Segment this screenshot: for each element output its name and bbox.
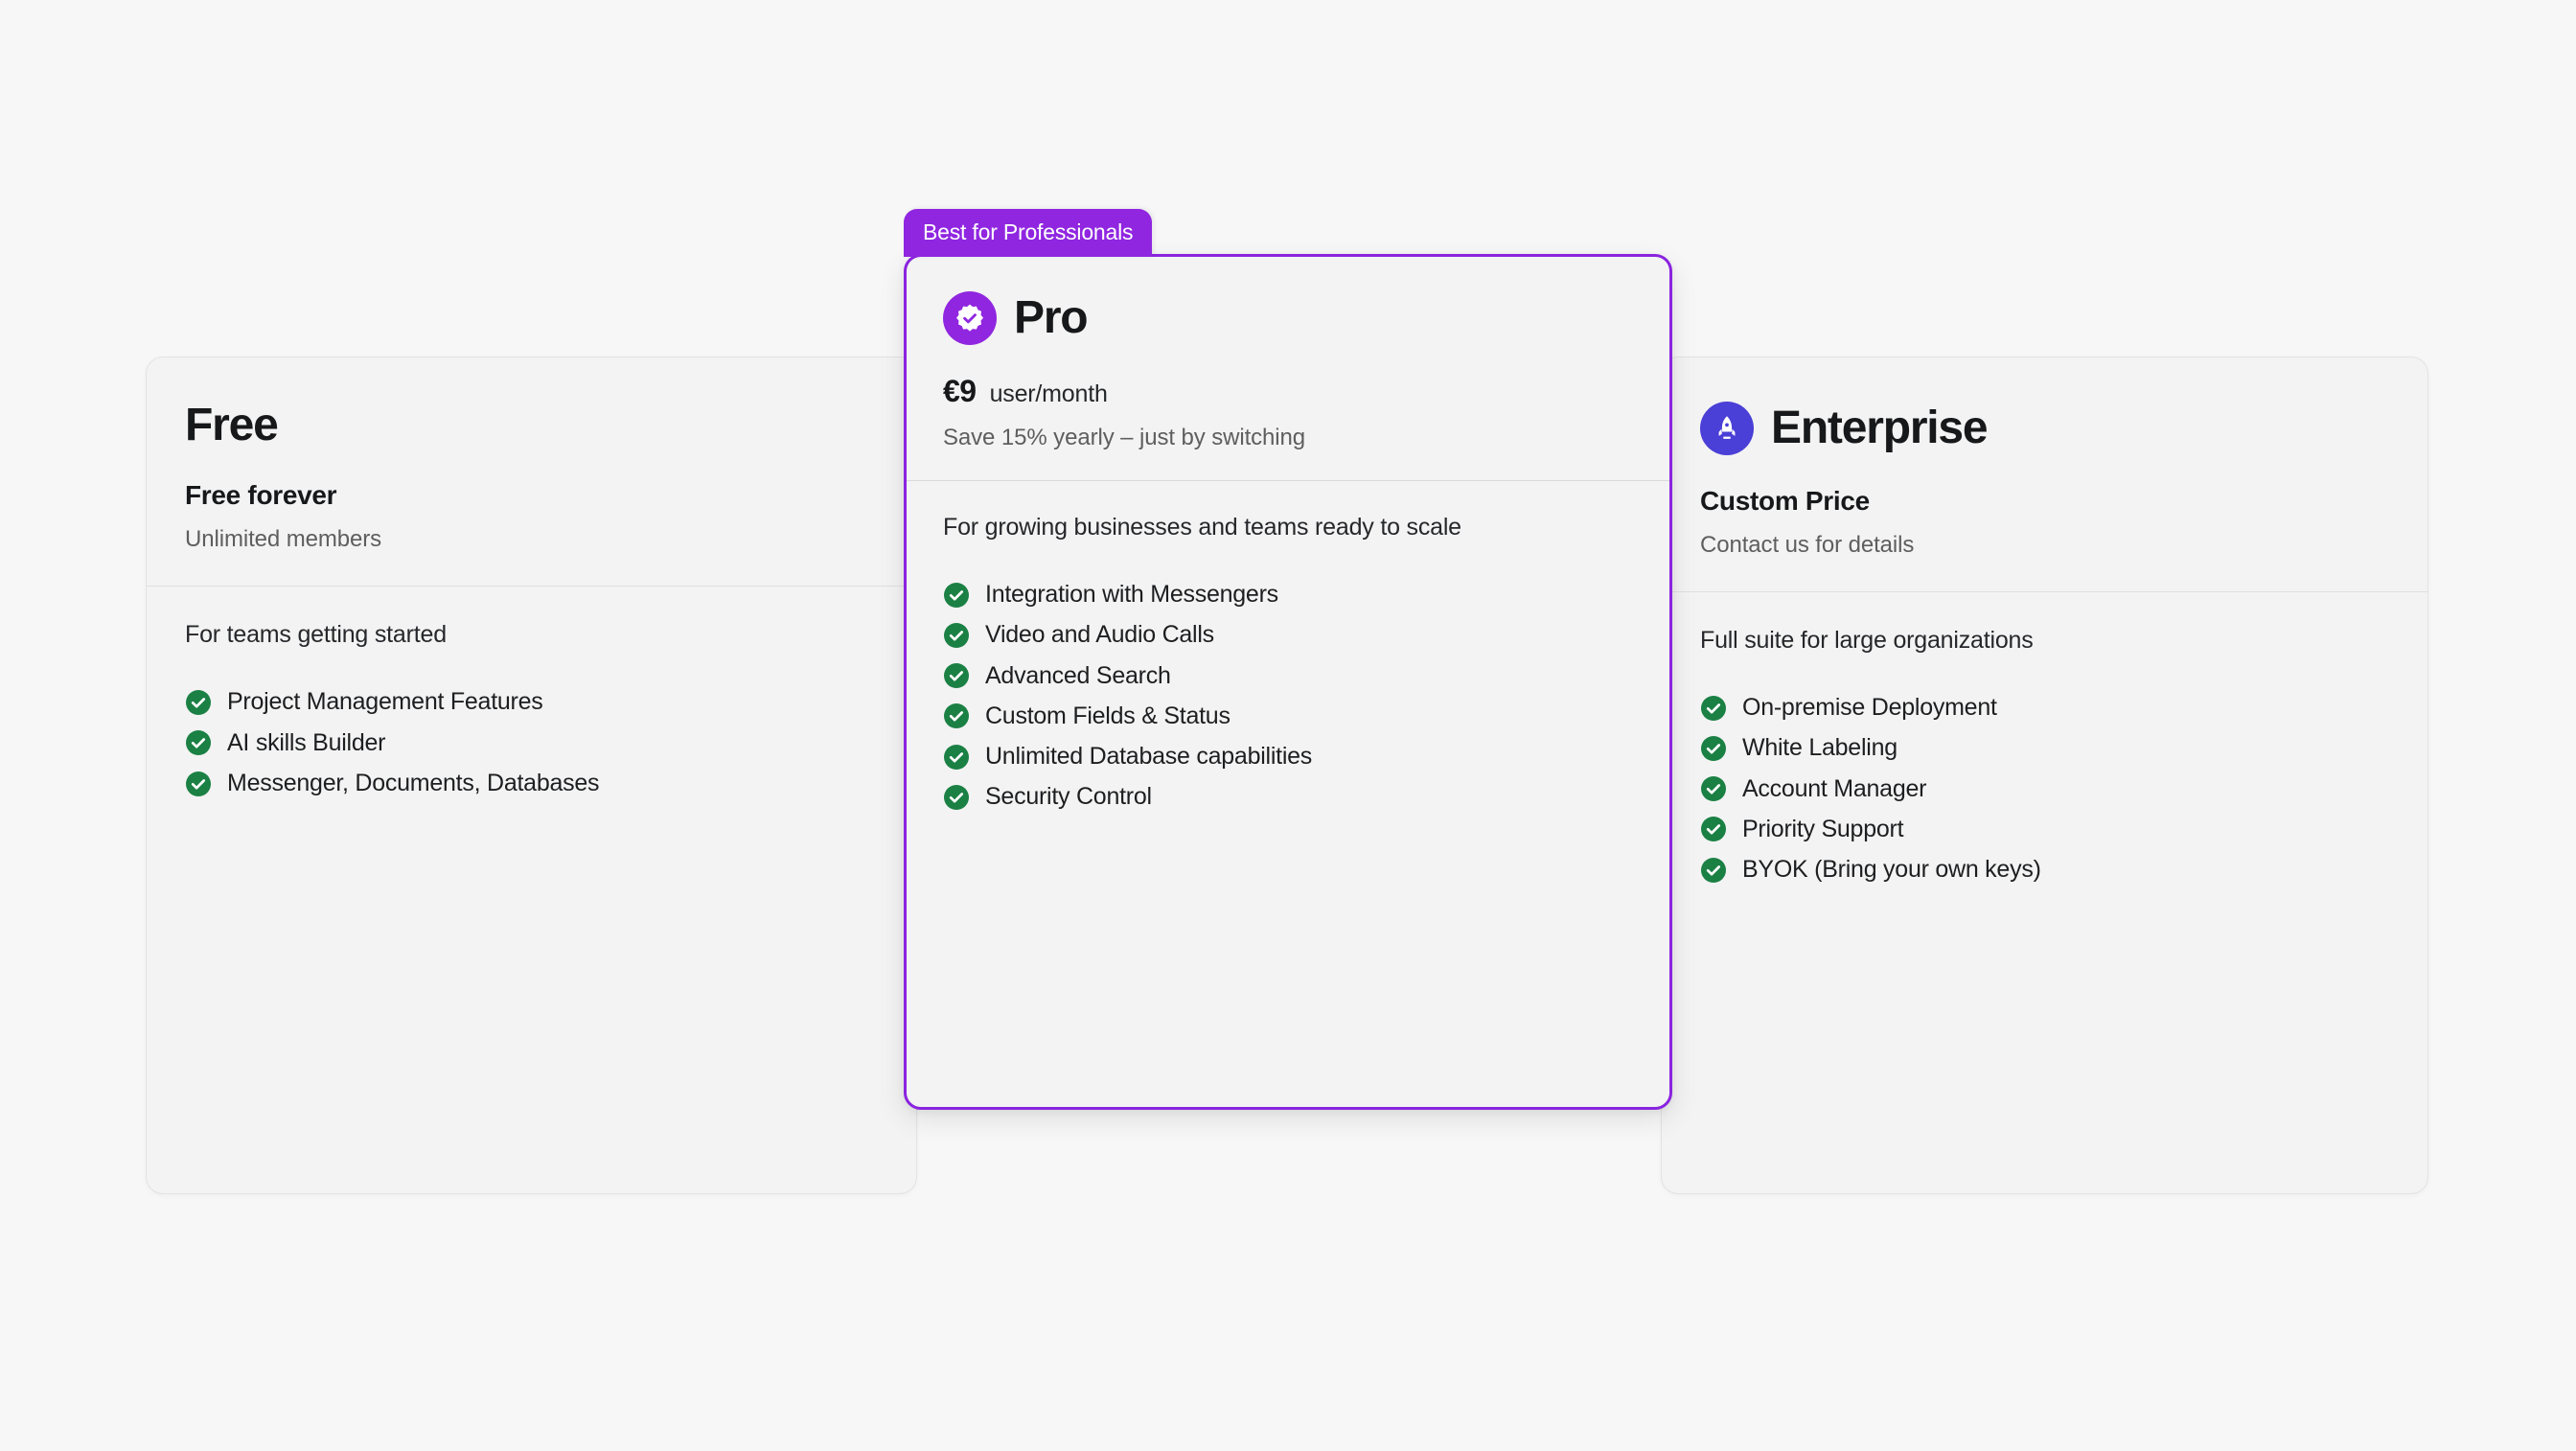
check-circle-icon (185, 771, 212, 797)
plan-title-pro: Pro (1014, 294, 1087, 342)
feature-item: Account Manager (1700, 774, 2389, 804)
feature-label: Video and Audio Calls (985, 620, 1214, 650)
card-body-free: For teams getting started Project Manage… (147, 587, 916, 1193)
feature-label: Priority Support (1742, 815, 1903, 844)
check-circle-icon (1700, 816, 1727, 842)
plan-title-free: Free (185, 402, 278, 449)
plan-price-row-pro: €9 user/month (943, 374, 1633, 409)
feature-item: Messenger, Documents, Databases (185, 769, 878, 798)
plan-price-subtitle-enterprise: Custom Price (1700, 486, 2389, 517)
plan-title-row-enterprise: Enterprise (1700, 402, 2389, 455)
feature-label: Messenger, Documents, Databases (227, 769, 599, 798)
feature-item: Security Control (943, 782, 1633, 812)
plan-tagline-pro: For growing businesses and teams ready t… (943, 514, 1633, 541)
plan-tagline-enterprise: Full suite for large organizations (1700, 627, 2389, 655)
card-header-enterprise: Enterprise Custom Price Contact us for d… (1662, 357, 2427, 591)
feature-item: AI skills Builder (185, 728, 878, 758)
feature-list-free: Project Management Features AI skills Bu… (185, 687, 878, 798)
feature-label: On-premise Deployment (1742, 693, 1997, 723)
check-circle-icon (1700, 695, 1727, 722)
check-circle-icon (943, 622, 970, 649)
feature-item: Custom Fields & Status (943, 702, 1633, 731)
feature-item: Integration with Messengers (943, 580, 1633, 610)
feature-label: Custom Fields & Status (985, 702, 1230, 731)
plan-price-amount: €9 (943, 374, 977, 409)
feature-list-pro: Integration with Messengers Video and Au… (943, 580, 1633, 813)
feature-label: Integration with Messengers (985, 580, 1278, 610)
check-circle-icon (1700, 735, 1727, 762)
plan-tagline-free: For teams getting started (185, 621, 878, 649)
verified-badge-icon (943, 291, 997, 345)
feature-label: Security Control (985, 782, 1152, 812)
feature-label: AI skills Builder (227, 728, 385, 758)
check-circle-icon (1700, 857, 1727, 884)
feature-item: Video and Audio Calls (943, 620, 1633, 650)
card-header-free: Free Free forever Unlimited members (147, 357, 916, 586)
feature-item: Unlimited Database capabilities (943, 742, 1633, 772)
best-for-professionals-badge: Best for Professionals (904, 209, 1152, 257)
badge-label: Best for Professionals (923, 219, 1133, 245)
feature-label: BYOK (Bring your own keys) (1742, 855, 2041, 885)
check-circle-icon (185, 689, 212, 716)
feature-list-enterprise: On-premise Deployment White Labeling Acc… (1700, 693, 2389, 885)
pricing-card-enterprise[interactable]: Enterprise Custom Price Contact us for d… (1661, 357, 2428, 1194)
card-header-pro: Pro €9 user/month Save 15% yearly – just… (907, 257, 1669, 480)
pricing-card-free[interactable]: Free Free forever Unlimited members For … (146, 357, 917, 1194)
check-circle-icon (943, 582, 970, 609)
check-circle-icon (1700, 775, 1727, 802)
feature-label: Project Management Features (227, 687, 543, 717)
feature-label: Account Manager (1742, 774, 1926, 804)
feature-label: Advanced Search (985, 661, 1171, 691)
card-body-enterprise: Full suite for large organizations On-pr… (1662, 592, 2427, 1193)
feature-item: Advanced Search (943, 661, 1633, 691)
feature-item: On-premise Deployment (1700, 693, 2389, 723)
feature-item: Priority Support (1700, 815, 2389, 844)
feature-item: BYOK (Bring your own keys) (1700, 855, 2389, 885)
check-circle-icon (943, 662, 970, 689)
check-circle-icon (943, 784, 970, 811)
plan-price-note-pro: Save 15% yearly – just by switching (943, 425, 1633, 451)
feature-item: Project Management Features (185, 687, 878, 717)
plan-title-row-free: Free (185, 402, 878, 449)
check-circle-icon (185, 729, 212, 756)
check-circle-icon (943, 702, 970, 729)
rocket-icon (1700, 402, 1754, 455)
feature-item: White Labeling (1700, 733, 2389, 763)
plan-price-note-enterprise: Contact us for details (1700, 532, 2389, 559)
feature-label: White Labeling (1742, 733, 1897, 763)
plan-price-note-free: Unlimited members (185, 526, 878, 553)
plan-title-enterprise: Enterprise (1771, 404, 1987, 452)
plan-price-subtitle-free: Free forever (185, 480, 878, 511)
pricing-card-pro[interactable]: Pro €9 user/month Save 15% yearly – just… (904, 254, 1672, 1110)
plan-price-period: user/month (990, 380, 1108, 408)
pricing-page: Free Free forever Unlimited members For … (0, 0, 2576, 1451)
feature-label: Unlimited Database capabilities (985, 742, 1312, 772)
card-body-pro: For growing businesses and teams ready t… (907, 481, 1669, 1107)
plan-title-row-pro: Pro (943, 291, 1633, 345)
check-circle-icon (943, 744, 970, 771)
